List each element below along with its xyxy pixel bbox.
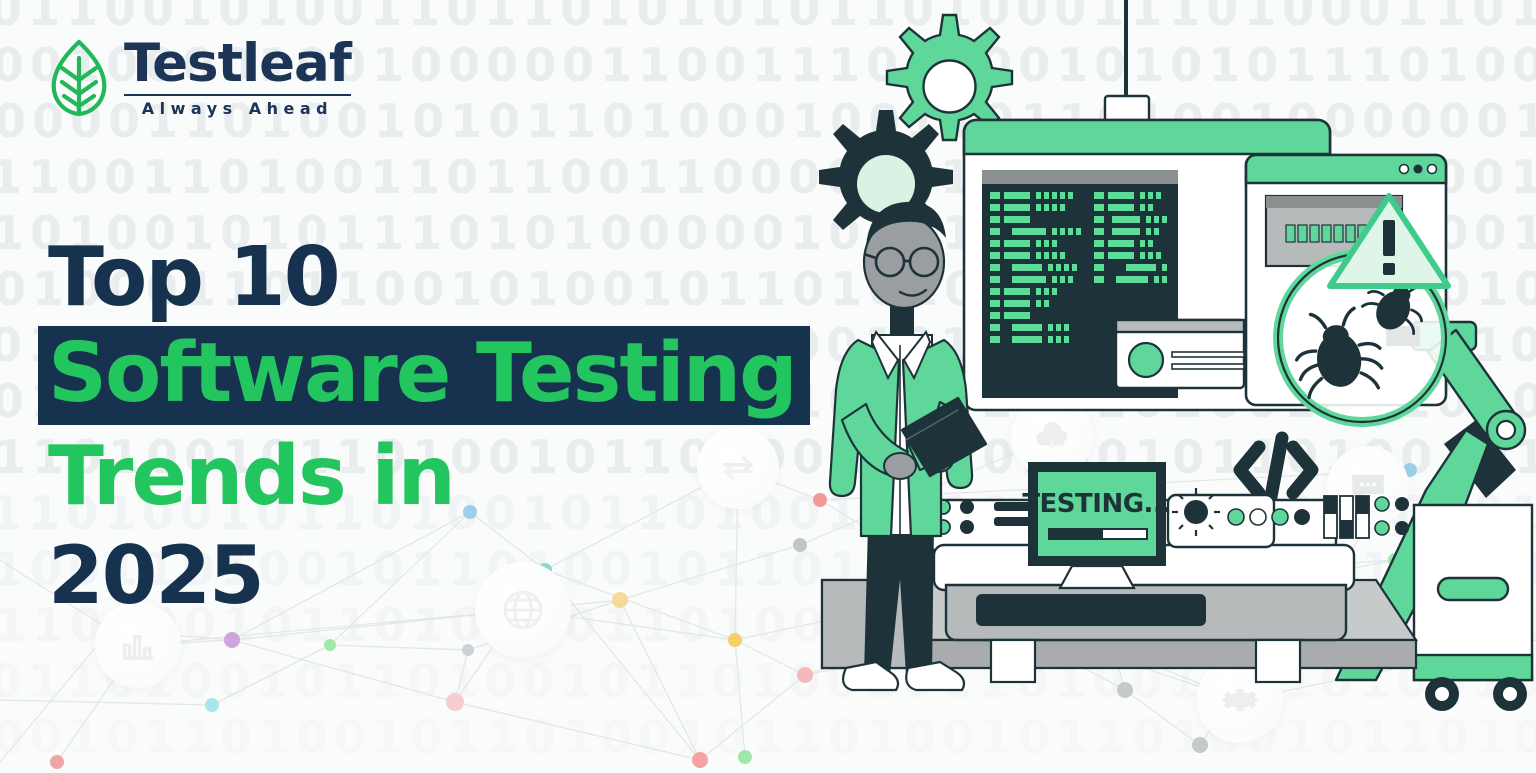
record-card (1116, 320, 1244, 388)
window-dot-2 (1414, 165, 1423, 174)
logo-tagline: Always Ahead (124, 99, 351, 118)
network-node (446, 693, 464, 711)
network-node (224, 632, 240, 648)
window-dot-1 (1400, 165, 1409, 174)
headline-line-4: 2025 (48, 535, 810, 617)
logo-text-block: Testleaf Always Ahead (124, 38, 351, 118)
leaf-icon (48, 38, 110, 118)
banner-canvas: 0110010100110110101010110100011101000110… (0, 0, 1536, 773)
code-tag-icon (1240, 438, 1312, 502)
network-node (462, 644, 474, 656)
network-node (797, 667, 813, 683)
network-node (50, 755, 64, 769)
software-testing-illustration: TESTING... (816, 0, 1536, 773)
network-node (728, 633, 742, 647)
headline-block: Top 10 Software Testing Trends in 2025 (48, 236, 810, 616)
network-node (205, 698, 219, 712)
logo-divider (124, 94, 351, 96)
network-node (324, 639, 336, 651)
network-node (738, 750, 752, 764)
window-dot-3 (1428, 165, 1437, 174)
network-node (692, 752, 708, 768)
testleaf-logo[interactable]: Testleaf Always Ahead (48, 38, 351, 118)
headline-line-3: Trends in (48, 435, 810, 519)
monitor-screen-text: TESTING... (1022, 489, 1171, 519)
logo-wordmark: Testleaf (124, 38, 351, 90)
headline-line-2: Software Testing (38, 326, 810, 426)
headline-line-1: Top 10 (48, 236, 810, 320)
network-node (103, 623, 117, 637)
